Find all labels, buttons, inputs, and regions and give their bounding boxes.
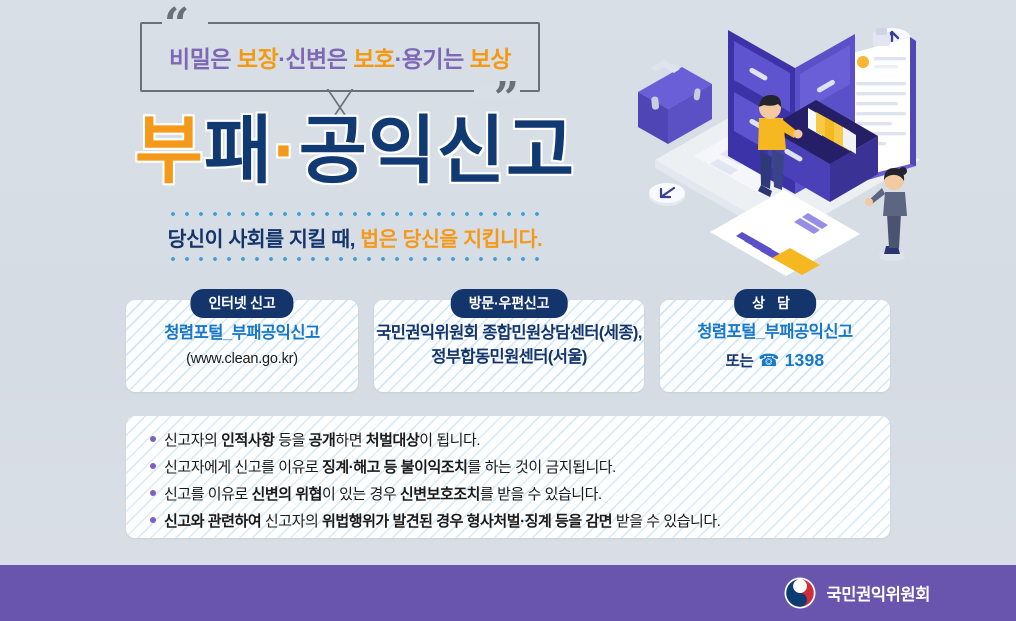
card-badge-visit-mail: 방문·우편신고: [451, 289, 568, 318]
bullet-dot-icon: [150, 490, 156, 496]
title-part-5: 신: [437, 109, 506, 192]
isometric-illustration: [620, 8, 1010, 286]
briefcase-icon: [638, 60, 712, 144]
bubble-seg-0: 비밀은: [169, 46, 237, 72]
bubble-seg-2: ·신변은: [278, 46, 353, 72]
notice-text-1: 신고자에게 신고를 이유로 징계·해고 등 불이익조치를 하는 것이 금지됩니다…: [164, 457, 616, 478]
card1-line1[interactable]: 청렴포털_부패공익신고: [164, 322, 319, 346]
title-part-0: 부: [135, 109, 204, 192]
bubble-seg-1: 보장: [237, 46, 278, 72]
title-part-6: 고: [506, 109, 575, 192]
notice-0-seg-5: 처벌대상: [366, 432, 419, 449]
title-part-1: 패: [204, 109, 273, 192]
bubble-seg-3: 보호: [353, 46, 394, 72]
notice-3-seg-1: 신고자의: [265, 513, 322, 530]
title-part-2: ·: [273, 109, 299, 192]
card1-line2-url[interactable]: (www.clean.go.kr): [186, 349, 298, 370]
subtitle-block: 당신이 사회를 지킬 때, 법은 당신을 지킵니다.: [105, 212, 605, 261]
title-part-3: 공: [299, 109, 368, 192]
notice-0-seg-6: 이 됩니다.: [419, 432, 480, 449]
card3-tel-number[interactable]: 1398: [785, 350, 825, 371]
card3-tel-prefix: 또는: [726, 349, 754, 371]
notice-2-seg-1: 신변의 위협: [252, 486, 322, 503]
notice-3-seg-0: 신고와 관련하여: [164, 513, 265, 530]
notice-0-seg-2: 등을: [275, 432, 309, 449]
bullet-dot-icon: [150, 436, 156, 442]
card-internet-report[interactable]: 인터넷 신고 청렴포털_부패공익신고 (www.clean.go.kr): [126, 300, 358, 392]
dotted-rule-top: [170, 212, 540, 216]
subtitle: 당신이 사회를 지킬 때, 법은 당신을 지킵니다.: [105, 222, 605, 252]
subtitle-orange-part: 법은 당신을 지킵니다.: [360, 228, 542, 251]
card-consultation[interactable]: 상 담 청렴포털_부패공익신고 또는 ☎ 1398: [660, 300, 890, 392]
card3-line1[interactable]: 청렴포털_부패공익신고: [697, 321, 852, 345]
notice-0-seg-0: 신고자의: [164, 432, 221, 449]
subtitle-navy-part: 당신이 사회를 지킬 때,: [168, 228, 361, 251]
telephone-icon: ☎: [758, 352, 779, 369]
bubble-seg-4: ·용기는: [395, 46, 470, 72]
title-part-4: 익: [368, 109, 437, 192]
bullet-dot-icon: [150, 517, 156, 523]
card2-line1: 국민권익위원회 종합민원상담센터(세종),: [376, 322, 642, 346]
card-visit-mail-report[interactable]: 방문·우편신고 국민권익위원회 종합민원상담센터(세종), 정부합동민원센터(서…: [374, 300, 644, 392]
bullet-dot-icon: [150, 463, 156, 469]
list-item: 신고자에게 신고를 이유로 징계·해고 등 불이익조치를 하는 것이 금지됩니다…: [150, 457, 868, 478]
notice-0-seg-4: 하면: [335, 432, 365, 449]
bubble-seg-5: 보상: [470, 46, 511, 72]
footer-logo-block: 국민권익위원회: [784, 577, 930, 609]
list-item: 신고와 관련하여 신고자의 위법행위가 발견된 경우 형사처벌·징계 등을 감면…: [150, 511, 868, 532]
notice-2-seg-2: 이 있는 경우: [322, 486, 400, 503]
info-cards-row: 인터넷 신고 청렴포털_부패공익신고 (www.clean.go.kr) 방문·…: [126, 300, 890, 392]
bubble-text: 비밀은 보장·신변은 보호·용기는 보상: [140, 40, 540, 74]
notice-0-seg-1: 인적사항: [221, 432, 274, 449]
notice-text-2: 신고를 이유로 신변의 위협이 있는 경우 신변보호조치를 받을 수 있습니다.: [164, 484, 602, 505]
list-item: 신고를 이유로 신변의 위협이 있는 경우 신변보호조치를 받을 수 있습니다.: [150, 484, 868, 505]
speech-bubble: “ ” 비밀은 보장·신변은 보호·용기는 보상: [140, 22, 540, 92]
list-item: 신고자의 인적사항 등을 공개하면 처벌대상이 됩니다.: [150, 430, 868, 451]
notice-2-seg-0: 신고를 이유로: [164, 486, 252, 503]
notice-panel: 신고자의 인적사항 등을 공개하면 처벌대상이 됩니다. 신고자에게 신고를 이…: [126, 416, 890, 538]
notice-1-seg-2: 를 하는 것이 금지됩니다.: [468, 459, 616, 476]
notice-1-seg-1: 징계·해고 등 불이익조치: [322, 459, 467, 476]
notice-text-3: 신고와 관련하여 신고자의 위법행위가 발견된 경우 형사처벌·징계 등을 감면…: [164, 511, 720, 532]
notice-3-seg-2: 위법행위가 발견된 경우 형사처벌·징계 등을 감면: [322, 513, 612, 530]
notice-1-seg-0: 신고자에게 신고를 이유로: [164, 459, 322, 476]
notice-0-seg-3: 공개: [309, 432, 336, 449]
notice-text-0: 신고자의 인적사항 등을 공개하면 처벌대상이 됩니다.: [164, 430, 480, 451]
korea-government-taegeuk-logo: [784, 577, 816, 609]
notice-2-seg-3: 신변보호조치: [400, 486, 480, 503]
card2-line2: 정부합동민원센터(서울): [431, 346, 587, 370]
card3-telephone-row: 또는 ☎ 1398: [726, 349, 825, 371]
notice-2-seg-4: 를 받을 수 있습니다.: [480, 486, 602, 503]
page-title: 부패·공익신고: [105, 112, 605, 190]
poster-root: “ ” 비밀은 보장·신변은 보호·용기는 보상 부패·공익신고 당신이 사회를…: [0, 0, 1016, 621]
footer-organization-name: 국민권익위원회: [827, 581, 930, 605]
notice-3-seg-3: 받을 수 있습니다.: [612, 513, 720, 530]
dotted-rule-bottom: [170, 257, 540, 261]
card-badge-consultation: 상 담: [734, 289, 816, 318]
card-badge-internet: 인터넷 신고: [190, 289, 293, 318]
footer-bar: 국민권익위원회: [0, 565, 1016, 621]
down-left-arrow-icon: [649, 183, 685, 206]
